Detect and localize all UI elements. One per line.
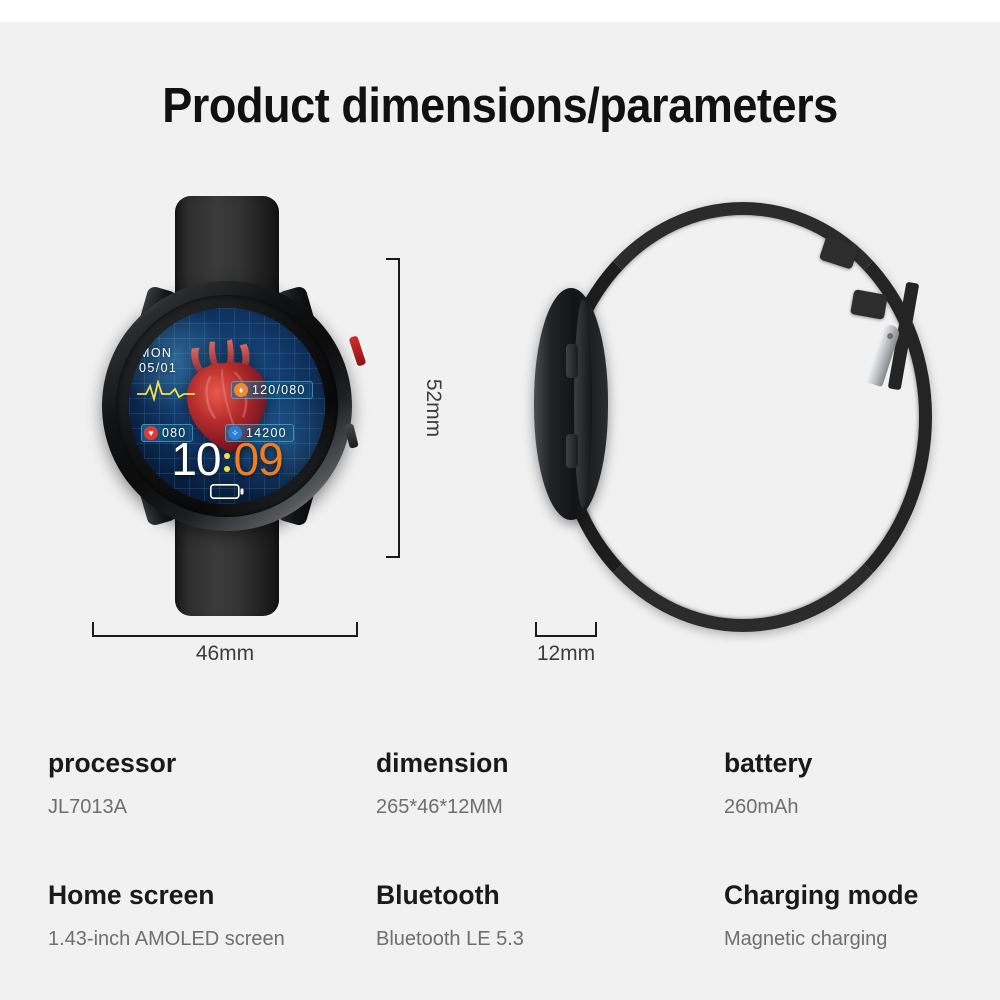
blood-pressure-icon: ♦ — [234, 383, 248, 397]
spec-item-charging-mode: Charging mode Magnetic charging — [724, 880, 964, 951]
dimension-bracket-thickness — [535, 622, 597, 637]
dimension-thickness-label: 12mm — [529, 642, 603, 666]
spec-label: battery — [724, 748, 964, 779]
watch-face-time-separator — [221, 446, 234, 479]
watch-screen: MON 05/01 ♦ 120/080 ✧ 142 — [129, 308, 325, 504]
watch-face-weekday: MON — [139, 346, 177, 361]
spec-value: Magnetic charging — [724, 928, 964, 951]
dimension-height-label: 52mm — [421, 379, 445, 437]
watch-face-date-value: 05/01 — [139, 361, 177, 376]
watch-bezel: MON 05/01 ♦ 120/080 ✧ 142 — [116, 295, 338, 517]
spec-label: dimension — [376, 748, 724, 779]
spec-grid: processor JL7013A dimension 265*46*12MM … — [48, 748, 964, 951]
dimension-height-52mm: 52mm — [386, 258, 432, 558]
spec-item-battery: battery 260mAh — [724, 748, 964, 880]
battery-icon — [129, 484, 325, 504]
watch-side-button-lower — [566, 434, 578, 468]
watch-case-edge — [574, 300, 592, 508]
spec-item-home-screen: Home screen 1.43-inch AMOLED screen — [48, 880, 376, 951]
watch-face-hours: 10 — [171, 433, 220, 485]
watch-face-blood-pressure-value: 120/080 — [252, 383, 306, 397]
spec-item-dimension: dimension 265*46*12MM — [376, 748, 724, 880]
watch-face-date: MON 05/01 — [139, 346, 177, 375]
page-title: Product dimensions/parameters — [40, 78, 960, 134]
spec-label: Bluetooth — [376, 880, 724, 911]
spec-item-bluetooth: Bluetooth Bluetooth LE 5.3 — [376, 880, 724, 951]
watch-case-profile — [534, 288, 608, 520]
spec-label: Charging mode — [724, 880, 964, 911]
watch-face-time: 1009 — [129, 436, 325, 482]
spec-value: 265*46*12MM — [376, 796, 724, 819]
spec-item-processor: processor JL7013A — [48, 748, 376, 880]
spec-label: processor — [48, 748, 376, 779]
product-infographic: Product dimensions/parameters — [0, 0, 1000, 1000]
watch-side-button — [344, 423, 359, 448]
ecg-waveform-icon — [137, 380, 195, 402]
watch-face-blood-pressure-widget: ♦ 120/080 — [231, 381, 313, 399]
watch-side-button-upper — [566, 344, 578, 378]
watch-case: MON 05/01 ♦ 120/080 ✧ 142 — [102, 281, 352, 531]
dimension-thickness-12mm: 12mm — [535, 622, 597, 682]
spec-value: JL7013A — [48, 796, 376, 819]
watch-band-loop — [554, 202, 932, 632]
spec-value: 260mAh — [724, 796, 964, 819]
dimension-bracket-horizontal — [92, 622, 358, 637]
dimension-width-label: 46mm — [92, 642, 358, 666]
smartwatch-front-view: MON 05/01 ♦ 120/080 ✧ 142 — [96, 196, 358, 616]
spec-label: Home screen — [48, 880, 376, 911]
watch-face-minutes: 09 — [234, 433, 283, 485]
spec-value: Bluetooth LE 5.3 — [376, 928, 724, 951]
dimension-bracket-vertical — [386, 258, 400, 558]
spec-value: 1.43-inch AMOLED screen — [48, 928, 376, 951]
dimension-width-46mm: 46mm — [92, 622, 358, 682]
smartwatch-side-view — [530, 196, 930, 616]
